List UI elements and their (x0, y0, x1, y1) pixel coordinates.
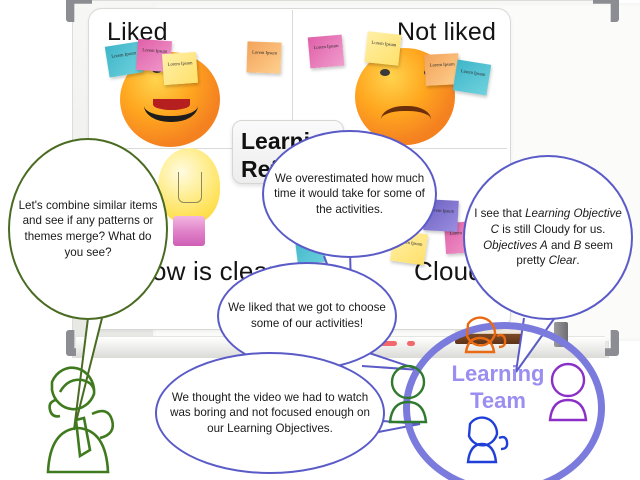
slide-canvas: Liked Not liked Now is clear Cloudy Lore… (0, 0, 640, 480)
sticky-note-teal-2[interactable]: Lorem Ipsum (453, 60, 491, 96)
sticky-note-yellow-1[interactable]: Lorem Ipsum (162, 52, 198, 85)
bubble-activities-text: We liked that we got to choose some of o… (219, 300, 395, 331)
sticky-note-text: Lorem Ipsum (111, 48, 138, 61)
sticky-note-text: Lorem Ipsum (460, 66, 487, 79)
sticky-note-orange-1[interactable]: Lorem Ipsum (246, 41, 281, 73)
sad-face-mouth (381, 106, 431, 135)
bubble-facilitator-text: Let's combine similar items and see if a… (10, 198, 166, 260)
sticky-note-text: Lorem Ipsum (430, 59, 456, 69)
bubble-overestimated-text: We overestimated how much time it would … (264, 171, 435, 218)
sticky-note-text: Lorem Ipsum (371, 38, 398, 50)
lightbulb-base (173, 216, 205, 246)
header-not-liked: Not liked (397, 18, 496, 47)
sticky-note-text: Lorem Ipsum (167, 58, 194, 69)
red-marker-2[interactable] (407, 341, 415, 346)
bubble-overestimated[interactable]: We overestimated how much time it would … (262, 130, 437, 258)
bubble-objectives[interactable]: I see that Learning Objective C is still… (463, 155, 633, 320)
sad-face-eye-left (380, 69, 390, 76)
lightbulb-filament (178, 172, 202, 203)
sticky-note-pink-2[interactable]: Lorem Ipsum (308, 35, 345, 69)
sticky-note-yellow-2[interactable]: Lorem Ipsum (364, 31, 401, 65)
sticky-note-text: Lorem Ipsum (313, 41, 340, 52)
bubble-video-text: We thought the video we had to watch was… (157, 390, 383, 437)
happy-face-mouth-fill (153, 99, 190, 110)
learning-team-label: Learning Team (438, 360, 558, 414)
bubble-video[interactable]: We thought the video we had to watch was… (155, 352, 385, 474)
bubble-objectives-text: I see that Learning Objective C is still… (465, 206, 631, 268)
sticky-note-text: Lorem Ipsum (252, 48, 278, 58)
facilitator-person-icon (48, 368, 113, 472)
bubble-facilitator[interactable]: Let's combine similar items and see if a… (8, 138, 168, 320)
